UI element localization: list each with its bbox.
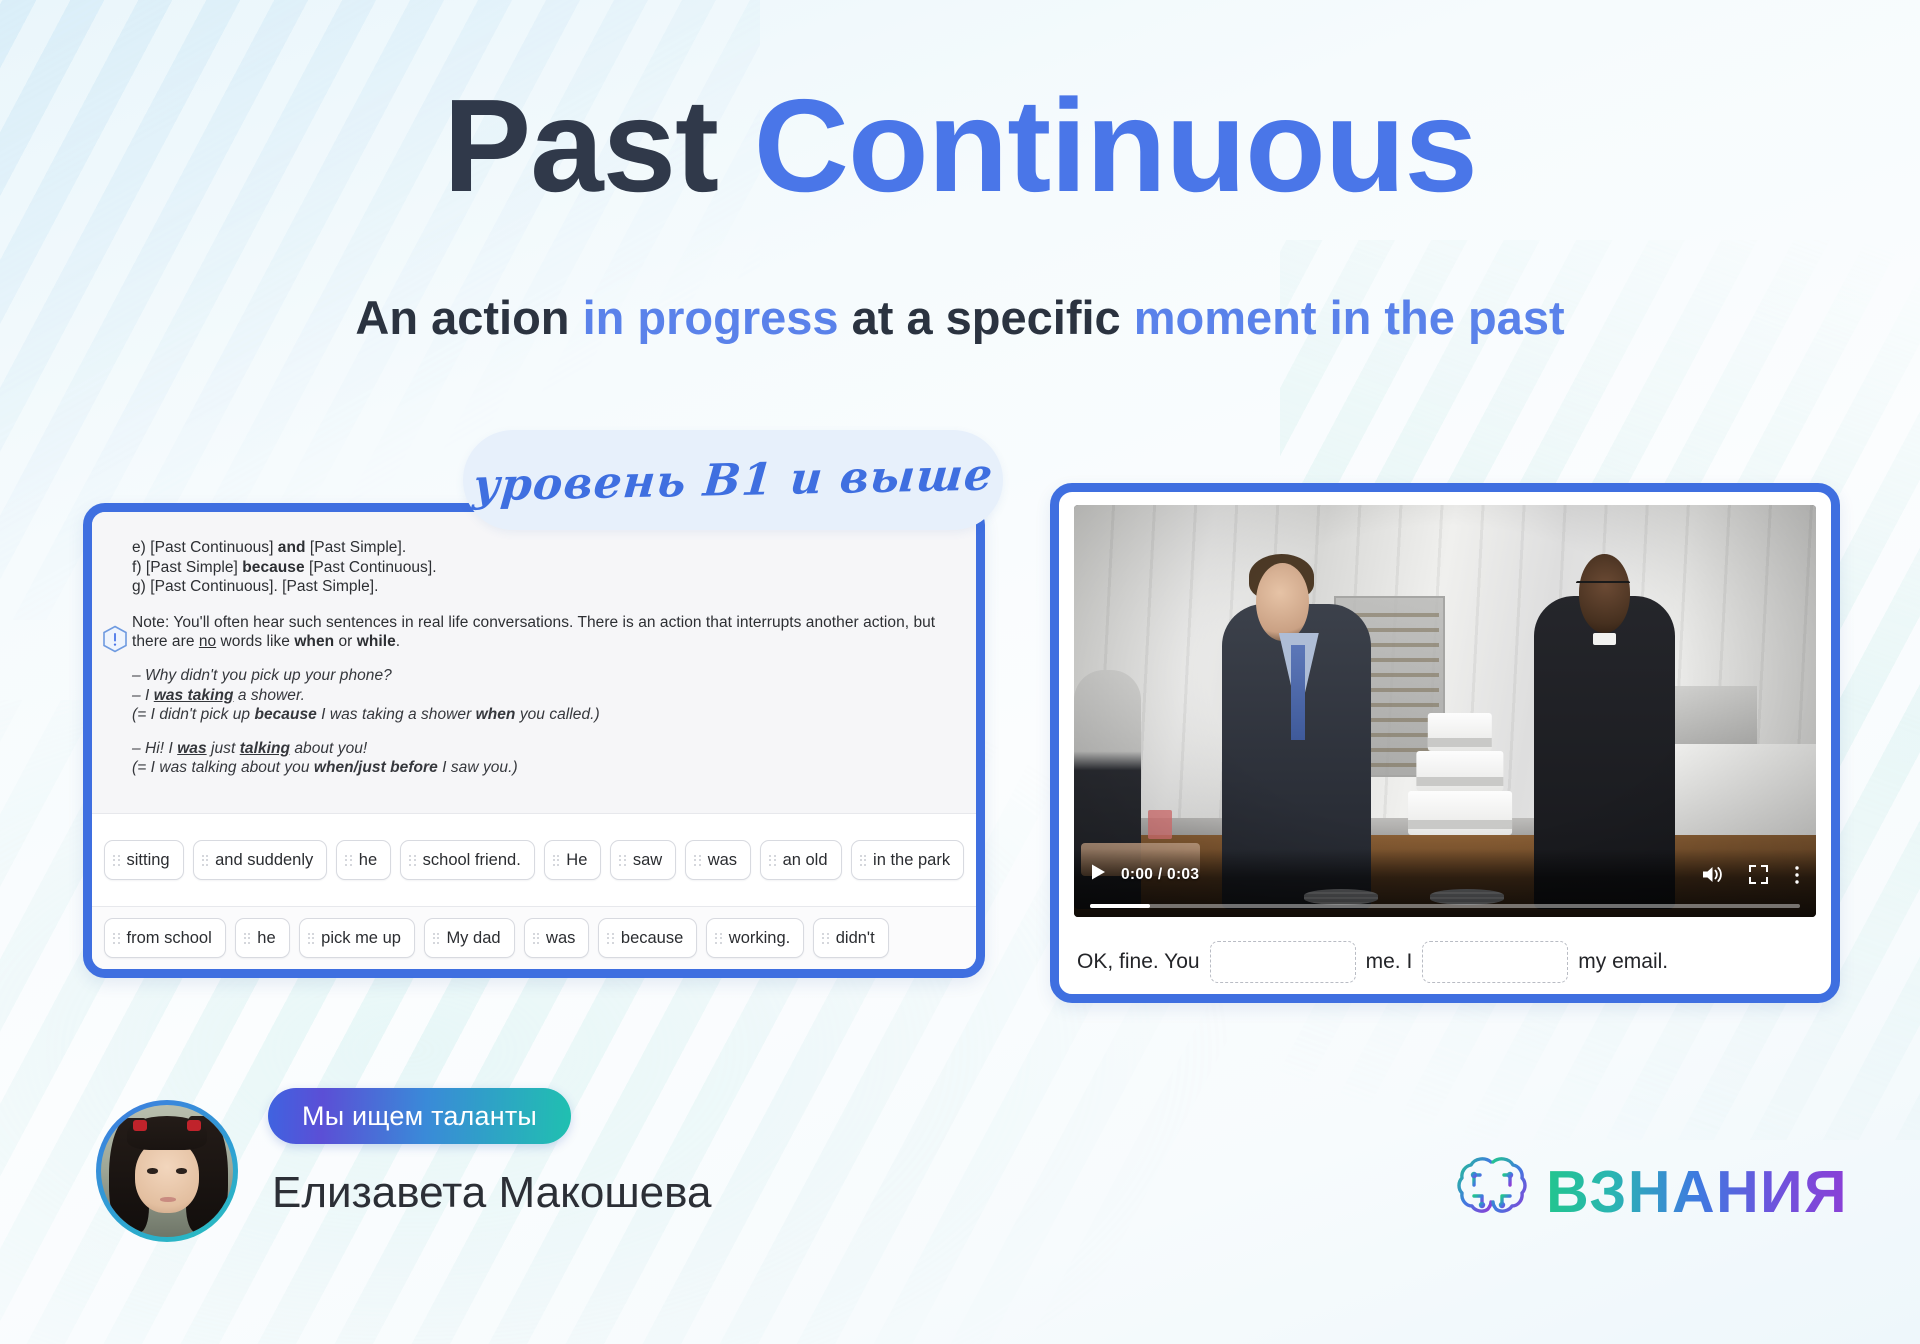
subtitle-accent-2: moment in the past: [1134, 291, 1565, 344]
note-keyword-while: while: [357, 633, 396, 650]
word-chip-label: and suddenly: [215, 851, 313, 870]
drag-handle-icon[interactable]: [533, 933, 540, 944]
video-progress-fill: [1090, 904, 1150, 908]
d2l1-prefix: – Hi! I: [132, 740, 177, 757]
spacer: [132, 725, 946, 739]
drag-handle-icon[interactable]: [113, 855, 120, 866]
rule-e-prefix: e) [Past Continuous]: [132, 539, 278, 556]
d1l3-bold-because: because: [254, 706, 316, 723]
word-chip[interactable]: and suddenly: [193, 840, 328, 880]
d2l1-suffix: about you!: [290, 740, 367, 757]
sentence-part-1: OK, fine. You: [1077, 950, 1200, 974]
note-paragraph: Note: You'll often hear such sentences i…: [132, 613, 946, 652]
word-chip-label: from school: [127, 929, 212, 948]
word-chip[interactable]: pick me up: [299, 918, 415, 958]
drag-handle-icon[interactable]: [619, 855, 626, 866]
spacer: [132, 597, 946, 611]
drag-handle-icon[interactable]: [715, 933, 722, 944]
word-chip[interactable]: saw: [610, 840, 676, 880]
word-chip-row-1: sittingand suddenlyheschool friend.Hesaw…: [92, 813, 976, 906]
word-chip[interactable]: was: [524, 918, 590, 958]
word-chip[interactable]: because: [598, 918, 697, 958]
dialog-1-line-3: (= I didn't pick up because I was taking…: [132, 705, 946, 725]
word-chip[interactable]: in the park: [851, 840, 965, 880]
avatar-mouth: [160, 1197, 176, 1201]
word-chip-label: was: [546, 929, 575, 948]
video-time-display: 0:00 / 0:03: [1121, 866, 1199, 884]
drag-handle-icon[interactable]: [860, 855, 867, 866]
note-end: .: [396, 633, 400, 650]
brand-logo: ВЗНАНИЯ: [1454, 1152, 1848, 1231]
author-name: Елизавета Макошева: [272, 1168, 711, 1218]
note-or: or: [334, 633, 357, 650]
drag-handle-icon[interactable]: [202, 855, 209, 866]
drag-handle-icon[interactable]: [822, 933, 829, 944]
note-middle: words like: [216, 633, 294, 650]
d2l1-marked-talking: talking: [240, 740, 290, 757]
d2l2-prefix: (= I was talking about you: [132, 759, 314, 776]
word-chip-label: My dad: [446, 929, 500, 948]
avatar-hair-bow-right: [187, 1120, 202, 1132]
play-icon[interactable]: [1090, 863, 1107, 886]
avatar: [96, 1100, 238, 1242]
drag-handle-icon[interactable]: [345, 855, 352, 866]
drag-handle-icon[interactable]: [308, 933, 315, 944]
word-chip-label: saw: [633, 851, 662, 870]
answer-blank-1[interactable]: [1210, 941, 1356, 983]
rule-line-f: f) [Past Simple] because [Past Continuou…: [132, 558, 946, 578]
fill-in-sentence: OK, fine. You me. I my email.: [1059, 930, 1831, 994]
video-exercise-panel: 0:00 / 0:03: [1050, 483, 1840, 1003]
d2l2-bold: when/just before: [314, 759, 438, 776]
word-chip-label: He: [566, 851, 587, 870]
avatar-hair-bow-left: [133, 1120, 148, 1132]
subtitle-accent-1: in progress: [583, 291, 839, 344]
note-underlined-word: no: [199, 633, 216, 650]
word-chip[interactable]: from school: [104, 918, 226, 958]
word-chip[interactable]: working.: [706, 918, 804, 958]
drag-handle-icon[interactable]: [769, 855, 776, 866]
subtitle-text-2: at a specific: [839, 291, 1134, 344]
word-chip[interactable]: was: [685, 840, 751, 880]
level-badge: уровень B1 и выше: [463, 430, 1003, 530]
word-chip[interactable]: didn't: [813, 918, 888, 958]
talent-badge[interactable]: Мы ищем таланты: [268, 1088, 571, 1144]
dialog-2-line-1: – Hi! I was just talking about you!: [132, 739, 946, 759]
rule-f-suffix: [Past Continuous].: [305, 559, 437, 576]
rule-e-suffix: [Past Simple].: [306, 539, 407, 556]
task-panel: e) [Past Continuous] and [Past Simple]. …: [83, 503, 985, 978]
drag-handle-icon[interactable]: [244, 933, 251, 944]
word-chip-label: sitting: [127, 851, 170, 870]
d2l2-suffix: I saw you.): [438, 759, 518, 776]
rule-f-keyword: because: [242, 559, 304, 576]
page-subtitle: An action in progress at a specific mome…: [0, 290, 1920, 345]
word-chip-label: in the park: [873, 851, 950, 870]
subtitle-text-1: An action: [355, 291, 582, 344]
rule-line-g: g) [Past Continuous]. [Past Simple].: [132, 577, 946, 597]
brain-circuit-icon: [1454, 1152, 1530, 1231]
spacer: [132, 652, 946, 666]
brand-name: ВЗНАНИЯ: [1546, 1158, 1848, 1226]
page-title: Past Continuous: [0, 80, 1920, 212]
word-chip-label: pick me up: [321, 929, 401, 948]
volume-icon[interactable]: [1702, 865, 1723, 884]
dialog-2-line-2: (= I was talking about you when/just bef…: [132, 758, 946, 778]
slide-stage: Past Continuous An action in progress at…: [0, 0, 1920, 1344]
level-badge-label: уровень B1 и выше: [471, 449, 995, 511]
avatar-face: [135, 1139, 198, 1213]
word-chip[interactable]: sitting: [104, 840, 184, 880]
d1l3-suffix: you called.): [515, 706, 599, 723]
word-chip[interactable]: school friend.: [400, 840, 535, 880]
word-chip[interactable]: he: [336, 840, 391, 880]
rule-f-prefix: f) [Past Simple]: [132, 559, 242, 576]
sentence-part-3: my email.: [1578, 950, 1668, 974]
answer-blank-2[interactable]: [1422, 941, 1568, 983]
rule-line-e: e) [Past Continuous] and [Past Simple].: [132, 538, 946, 558]
d1l3-middle: I was taking a shower: [317, 706, 476, 723]
d2l1-middle: just: [207, 740, 240, 757]
video-controls-bar: 0:00 / 0:03: [1074, 849, 1816, 917]
word-chip[interactable]: My dad: [424, 918, 515, 958]
video-progress-bar[interactable]: [1090, 904, 1800, 908]
more-vertical-icon[interactable]: [1794, 865, 1800, 885]
drag-handle-icon[interactable]: [607, 933, 614, 944]
word-chip-label: an old: [783, 851, 828, 870]
talent-badge-label: Мы ищем таланты: [302, 1101, 537, 1132]
dialog-1-line-1: – Why didn't you pick up your phone?: [132, 666, 946, 686]
drag-handle-icon[interactable]: [409, 855, 416, 866]
drag-handle-icon[interactable]: [433, 933, 440, 944]
alert-hexagon-icon: [102, 625, 128, 653]
d1l2-suffix: a shower.: [234, 687, 305, 704]
word-chip-label: he: [257, 929, 275, 948]
word-chip-label: because: [621, 929, 683, 948]
task-instructions: e) [Past Continuous] and [Past Simple]. …: [92, 512, 976, 813]
note-keyword-when: when: [294, 633, 334, 650]
video-player[interactable]: 0:00 / 0:03: [1074, 505, 1816, 917]
word-chip[interactable]: an old: [760, 840, 841, 880]
title-part-continuous: Continuous: [754, 72, 1477, 219]
avatar-image: [101, 1105, 233, 1237]
word-chip-label: working.: [729, 929, 790, 948]
dialog-1-line-2: – I was taking a shower.: [132, 686, 946, 706]
drag-handle-icon[interactable]: [694, 855, 701, 866]
word-chip-label: was: [708, 851, 737, 870]
word-chip[interactable]: he: [235, 918, 290, 958]
d1l3-bold-when: when: [476, 706, 516, 723]
d2l1-marked-was: was: [177, 740, 206, 757]
sentence-part-2: me. I: [1366, 950, 1413, 974]
avatar-eye-left: [147, 1168, 158, 1173]
word-chip-row-2: from schoolhepick me upMy dadwasbecausew…: [92, 906, 976, 969]
rule-e-keyword: and: [278, 539, 306, 556]
d1l2-marked: was taking: [154, 687, 234, 704]
word-chip-label: school friend.: [423, 851, 521, 870]
word-chip-label: he: [359, 851, 377, 870]
title-part-past: Past: [443, 72, 754, 219]
d1l2-prefix: – I: [132, 687, 154, 704]
d1l3-prefix: (= I didn't pick up: [132, 706, 254, 723]
drag-handle-icon[interactable]: [553, 855, 560, 866]
word-chip-label: didn't: [836, 929, 875, 948]
word-chip[interactable]: He: [544, 840, 602, 880]
drag-handle-icon[interactable]: [113, 933, 120, 944]
fullscreen-icon[interactable]: [1749, 865, 1768, 884]
avatar-eye-right: [176, 1168, 187, 1173]
